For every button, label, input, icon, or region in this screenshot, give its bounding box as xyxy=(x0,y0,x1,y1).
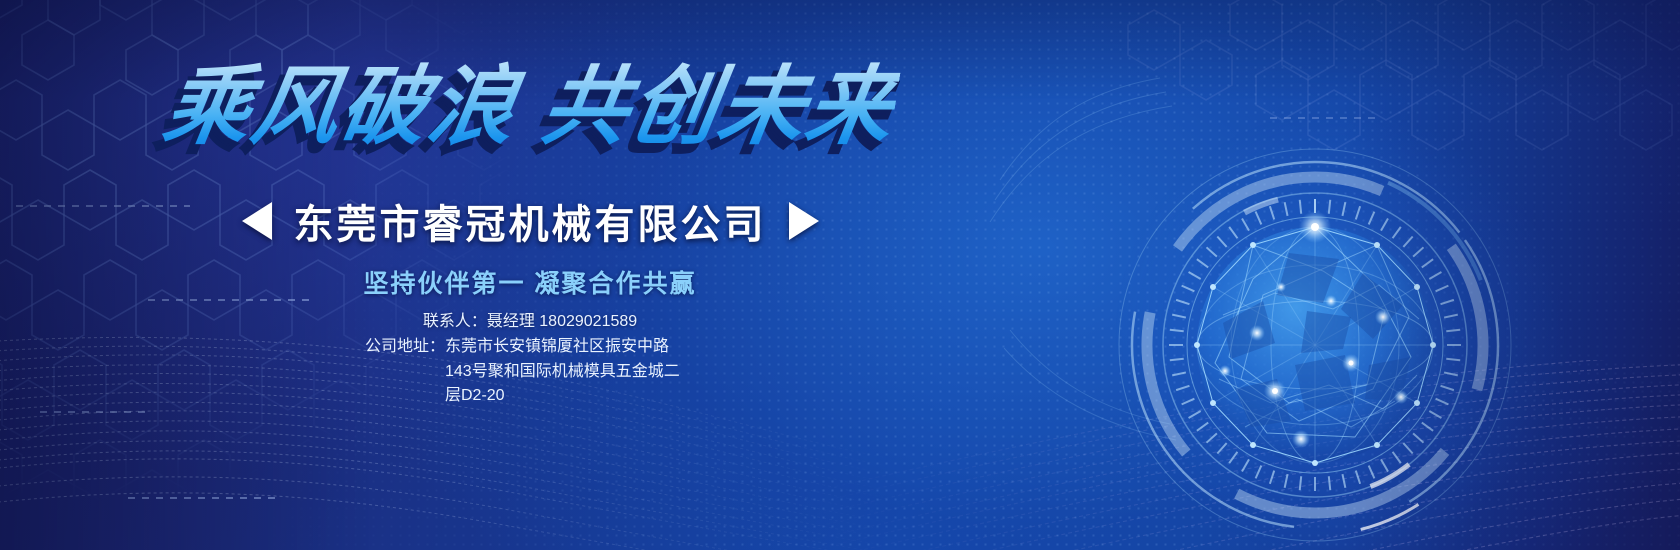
company-address-line: 公司地址： 东莞市长安镇锦厦社区振安中路143号聚和国际机械模具五金城二层D2-… xyxy=(150,335,910,409)
company-name: 东莞市睿冠机械有限公司 xyxy=(294,192,767,250)
globe-nodes xyxy=(1194,211,1436,466)
hexagon-pattern-right xyxy=(1128,0,1680,150)
hud-tick-rings xyxy=(1053,83,1577,550)
contact-person-line: 联系人：聂经理 18029021589 xyxy=(0,310,1060,335)
address-label: 公司地址： xyxy=(365,335,445,409)
headline-text: 乘风破浪 共创未来 xyxy=(157,59,902,155)
slogan: 坚持伙伴第一 凝聚合作共赢 xyxy=(0,264,1060,300)
banner-text-content: 乘风破浪 共创未来 乘风破浪 共创未来 东莞市睿冠机械有限公司 坚持伙伴第一 凝… xyxy=(0,0,1060,550)
triangle-left-icon xyxy=(242,202,272,240)
contact-block: 联系人：聂经理 18029021589 公司地址： 东莞市长安镇锦厦社区振安中路… xyxy=(0,310,1060,409)
globe-sphere xyxy=(1197,227,1433,463)
company-name-row: 东莞市睿冠机械有限公司 xyxy=(0,192,1060,250)
headline-wrapper: 乘风破浪 共创未来 乘风破浪 共创未来 xyxy=(0,62,1060,152)
promo-banner: 乘风破浪 共创未来 乘风破浪 共创未来 东莞市睿冠机械有限公司 坚持伙伴第一 凝… xyxy=(0,0,1680,550)
globe-facets xyxy=(1223,253,1411,427)
globe-glow xyxy=(1100,120,1580,550)
address-value: 东莞市长安镇锦厦社区振安中路143号聚和国际机械模具五金城二层D2-20 xyxy=(445,335,695,409)
headline: 乘风破浪 共创未来 乘风破浪 共创未来 xyxy=(158,62,902,152)
globe-wireframe xyxy=(1197,227,1433,463)
triangle-right-icon xyxy=(789,202,819,240)
